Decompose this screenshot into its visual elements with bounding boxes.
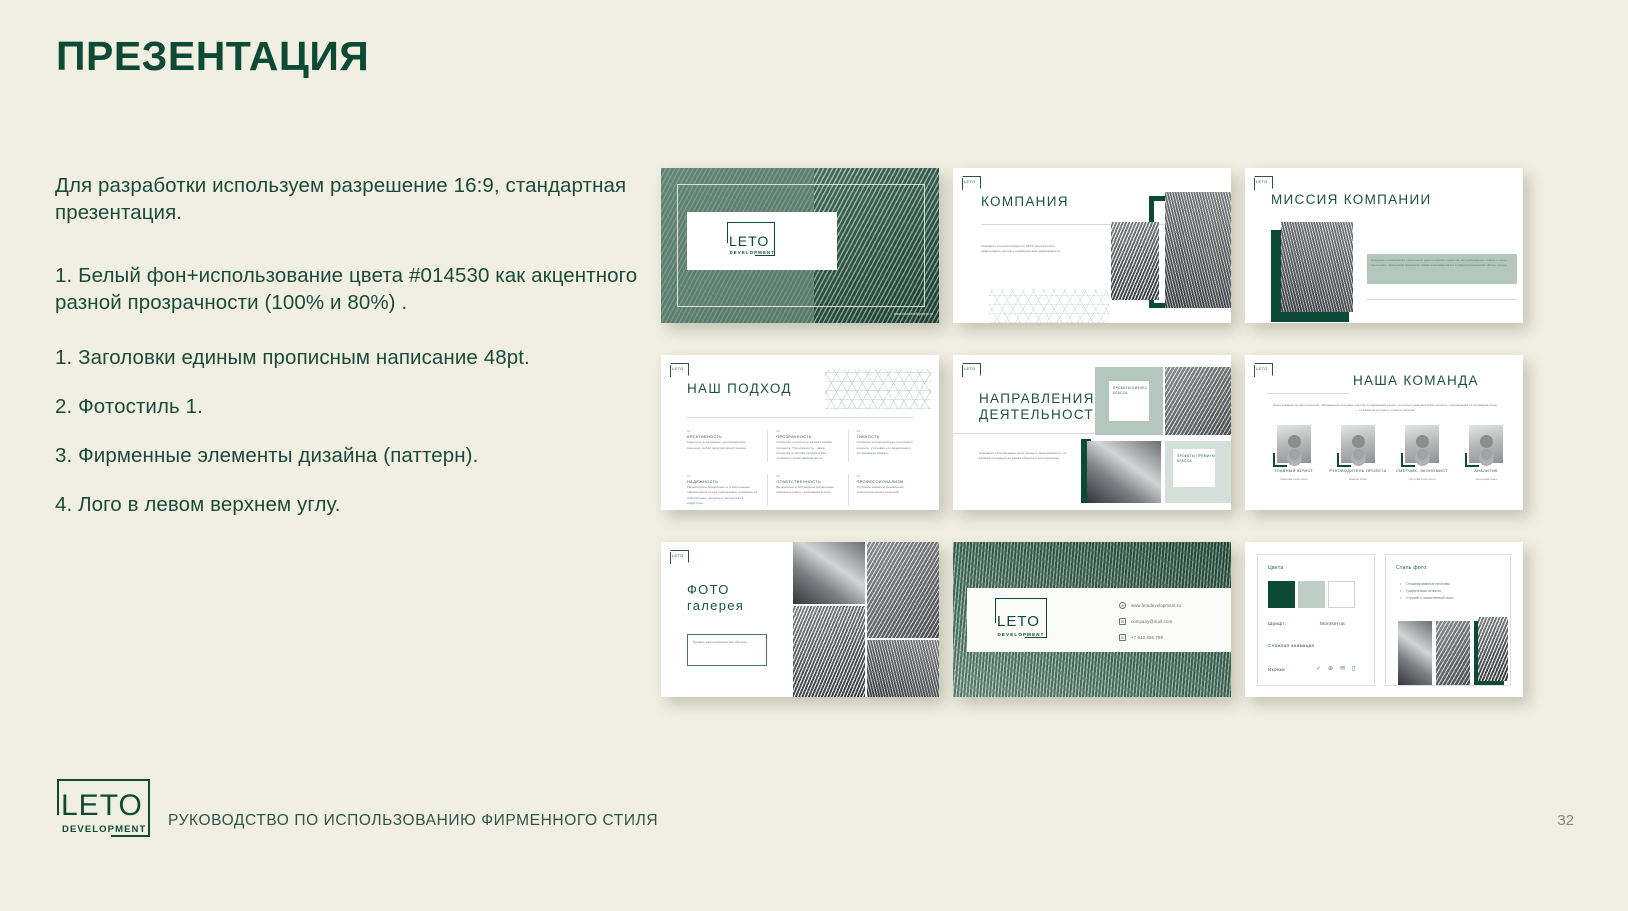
slide-thumbnail-style[interactable]: Цвета Шрифт: Montserrat Сложная анимация…: [1245, 542, 1523, 697]
company-photo-left: [1111, 222, 1159, 300]
directions-title: НАПРАВЛЕНИЯ ДЕЯТЕЛЬНОСТИ: [979, 391, 1105, 424]
gallery-caption-box: Пример расположения фотоблоков.: [687, 634, 767, 666]
slide-thumbnail-mission[interactable]: LETO МИССИЯ КОМПАНИИ Создание и реализац…: [1245, 168, 1523, 323]
approach-cell: 06 ПРОФЕССИОНАЛИЗМ Глубокие знания и уни…: [848, 474, 919, 507]
directions-body: Компания сопровождает весь процесс девел…: [979, 451, 1075, 462]
style-photo-3: [1478, 617, 1508, 681]
team-role-2: РУКОВОДИТЕЛЬ ПРОЕКТА Иванов Иван: [1329, 469, 1387, 481]
copy-item-2: 1. Заголовки единым прописным написание …: [55, 344, 655, 371]
slide-thumbnail-company[interactable]: LETO КОМПАНИЯ Компания специализируется …: [953, 168, 1231, 323]
style-animation-label: Сложная анимация: [1268, 643, 1314, 648]
style-font-value: Montserrat: [1320, 621, 1345, 626]
team-avatar: [1405, 425, 1439, 463]
gallery-title: ФОТО галерея: [687, 582, 744, 614]
slide-thumbnail-cover[interactable]: LETO DEVELOPMENT www.letodevelopment.ru: [661, 168, 939, 323]
slide-logo-chip: LETO: [962, 363, 981, 376]
cover-url: www.letodevelopment.ru: [894, 312, 933, 318]
slide-thumbnail-contacts[interactable]: LETO DEVELOPMENT ⊕ www.letodevelopment.r…: [953, 542, 1231, 697]
cover-logo-sub: DEVELOPMENT: [730, 250, 776, 255]
team-avatar: [1469, 425, 1503, 463]
swatch-primary: [1268, 581, 1295, 608]
slide-logo-chip: LETO: [670, 363, 689, 376]
approach-cell: 05 ОТВЕТСТВЕННОСТЬ Выполняем и соблюдаем…: [767, 474, 838, 507]
footer-caption: РУКОВОДСТВО ПО ИСПОЛЬЗОВАНИЮ ФИРМЕННОГО …: [168, 812, 658, 830]
team-role-3: СМЕТЧИК- ЭКОНОМИСТ Петрова Анастасия: [1393, 469, 1451, 481]
mission-body: Создание и реализация уникальных девелоп…: [1371, 258, 1513, 268]
cover-logo-word: LETO: [729, 233, 769, 249]
gallery-photo-4: [867, 640, 939, 697]
contacts-logo-word: LETO: [997, 613, 1040, 630]
contact-email: company@mail.com: [1131, 619, 1172, 624]
mail-icon: ✉: [1340, 665, 1345, 672]
style-icon-row: ✓ ⊕ ✉ ▯: [1316, 665, 1355, 672]
footer-logo: LETO DEVELOPMENT: [57, 779, 150, 837]
approach-cell: 01 КРЕАТИВНОСТЬ Смелость в решениях, нес…: [687, 429, 758, 462]
slide-logo-chip: LETO: [1254, 176, 1273, 189]
slide-thumbnail-grid: LETO DEVELOPMENT www.letodevelopment.ru …: [661, 168, 1541, 697]
company-title: КОМПАНИЯ: [981, 194, 1069, 210]
team-role-1: ГЛАВНЫЙ ЮРИСТ Иванова Анастасия: [1265, 469, 1323, 481]
slide-logo-chip: LETO: [1254, 363, 1273, 376]
cover-logo-plate: LETO DEVELOPMENT: [687, 212, 837, 270]
style-photo-label: Стиль фото:: [1396, 565, 1428, 571]
copy-item-3: 2. Фотостиль 1.: [55, 393, 655, 420]
page-number: 32: [1557, 812, 1574, 829]
directions-tile-1-box: ПРОЕКТЫ БИЗНЕС КЛАССА: [1109, 381, 1149, 421]
team-title: НАША КОМАНДА: [1353, 373, 1479, 389]
contact-row-phone[interactable]: ☏ +7 912 456 789: [1119, 634, 1163, 641]
slide-thumbnail-team[interactable]: LETO НАША КОМАНДА Наша команда профессио…: [1245, 355, 1523, 510]
gallery-caption: Пример расположения фотоблоков.: [693, 640, 757, 645]
approach-grid: 01 КРЕАТИВНОСТЬ Смелость в решениях, нес…: [687, 429, 919, 506]
slide-thumbnail-gallery[interactable]: LETO ФОТО галерея Пример расположения фо…: [661, 542, 939, 697]
approach-pattern: [825, 369, 931, 409]
contacts-logo: LETO DEVELOPMENT: [995, 598, 1047, 638]
check-icon: ✓: [1316, 665, 1321, 672]
mail-icon: ✉: [1119, 618, 1126, 625]
gallery-photo-3: [793, 606, 865, 697]
style-colors-label: Цвета: [1268, 565, 1283, 571]
style-font-label: Шрифт:: [1268, 621, 1286, 626]
copy-item-5: 4. Лого в левом верхнем углу.: [55, 491, 655, 518]
intro-paragraph: Для разработки используем разрешение 16:…: [55, 172, 655, 226]
cover-logo: LETO DEVELOPMENT: [727, 222, 775, 256]
page-title: ПРЕЗЕНТАЦИЯ: [56, 33, 369, 80]
team-body: Наша команда профессионалов, обладающая …: [1271, 403, 1499, 413]
contacts-logo-sub: DEVELOPMENT: [998, 632, 1045, 637]
swatch-secondary: [1298, 581, 1325, 608]
directions-tile-1-label: ПРОЕКТЫ БИЗНЕС КЛАССА: [1113, 386, 1149, 395]
approach-cell: 02 ПРОЗРАЧНОСТЬ Открытая отчетность на в…: [767, 429, 838, 462]
mission-photo: [1281, 222, 1353, 312]
globe-icon: ⊕: [1328, 665, 1333, 672]
style-icons-label: Иконки: [1268, 667, 1285, 672]
approach-cell: 04 НАДЕЖНОСТЬ Гарантируем прозрачность и…: [687, 474, 758, 507]
team-rule: [1267, 393, 1349, 394]
mission-title: МИССИЯ КОМПАНИИ: [1271, 192, 1431, 208]
phone-icon: ☏: [1119, 634, 1126, 641]
company-photo-right: [1165, 192, 1231, 308]
slide-thumbnail-approach[interactable]: LETO НАШ ПОДХОД 01 КРЕАТИВНОСТЬ Смелость…: [661, 355, 939, 510]
team-avatar: [1341, 425, 1375, 463]
slide-logo-chip: LETO: [962, 176, 981, 189]
directions-tile-2-label: ПРОЕКТЫ ПРЕМИУМ КЛАССА: [1177, 454, 1215, 463]
swatch-white: [1328, 581, 1355, 608]
copy-item-1: 1. Белый фон+использование цвета #014530…: [55, 262, 655, 316]
style-colors-panel: Цвета Шрифт: Montserrat Сложная анимация…: [1257, 554, 1375, 686]
company-body: Компания специализируется LETO Developme…: [981, 244, 1073, 255]
style-photo-1: [1398, 621, 1432, 685]
contact-phone: +7 912 456 789: [1131, 635, 1163, 640]
style-photo-2: [1436, 621, 1470, 685]
description-block: Для разработки используем разрешение 16:…: [55, 172, 655, 540]
directions-tile-2-box: ПРОЕКТЫ ПРЕМИУМ КЛАССА: [1173, 449, 1215, 487]
slide-thumbnail-directions[interactable]: LETO НАПРАВЛЕНИЯ ДЕЯТЕЛЬНОСТИ Компания с…: [953, 355, 1231, 510]
directions-photo-1: [1165, 367, 1231, 435]
gallery-photo-2: [867, 542, 939, 638]
globe-icon: ⊕: [1119, 602, 1126, 609]
approach-title: НАШ ПОДХОД: [687, 381, 792, 397]
copy-item-4: 3. Фирменные элементы дизайна (паттерн).: [55, 442, 655, 469]
contacts-plate: LETO DEVELOPMENT ⊕ www.letodevelopment.r…: [967, 588, 1231, 652]
gallery-photo-1: [793, 542, 865, 604]
approach-rule: [687, 417, 913, 418]
phone-icon: ▯: [1352, 665, 1355, 672]
style-photo-panel: Стиль фото: Отсканированные негативы Гра…: [1385, 554, 1511, 686]
company-pattern: [989, 289, 1109, 323]
slide-logo-chip: LETO: [670, 550, 689, 563]
style-photo-bullets: Отсканированные негативы Графическая чет…: [1400, 581, 1504, 602]
contact-web: www.letodevelopment.ru: [1131, 603, 1181, 608]
directions-photo-2: [1087, 441, 1161, 503]
contact-row-web[interactable]: ⊕ www.letodevelopment.ru: [1119, 602, 1181, 609]
team-role-4: АНАЛИТИК Смирнова Анна: [1457, 469, 1515, 481]
footer-logo-word: LETO: [61, 789, 143, 823]
approach-cell: 03 ГИБКОСТЬ Готовность подстроиться под …: [848, 429, 919, 462]
contact-row-email[interactable]: ✉ company@mail.com: [1119, 618, 1172, 625]
footer-logo-sub: DEVELOPMENT: [62, 824, 146, 835]
mission-rule: [1367, 299, 1517, 300]
team-avatar: [1277, 425, 1311, 463]
